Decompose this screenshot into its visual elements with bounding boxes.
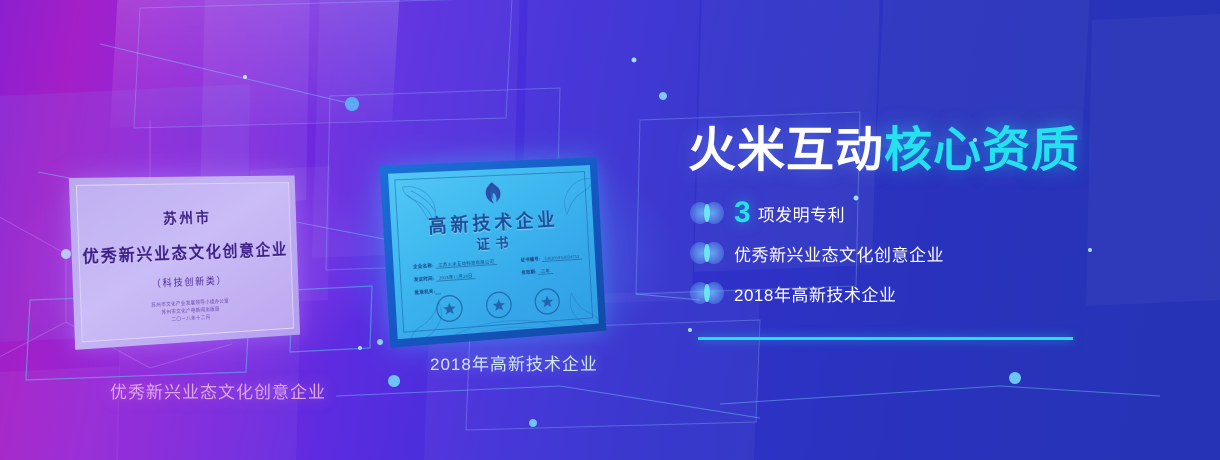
certificates-banner: 苏州市 优秀新兴业态文化创意企业 （科技创新类） 苏州市文化产业发展领导小组办公… [0,0,1220,460]
venn-bullet-icon [690,242,724,264]
certificate-middle-fields-right: 证书编号: GR201832034752 有效期: 三年 [521,254,584,289]
certificate-left-signature: 苏州市文化产业发展领导小组办公室 苏州市文化广电新闻出版局 二〇一八年十二月 [151,299,230,327]
field-value: 2018年11月28日 [436,273,476,281]
field-value: 三年 [538,268,553,275]
official-seal-icon [484,289,514,320]
high-tech-flame-logo-icon [481,181,503,210]
highlight-number: 3 [734,198,751,228]
official-seal-icon [434,293,464,325]
official-seal-icon [533,286,562,317]
field-label: 证书编号: [521,256,541,262]
field-label: 发证时间: [414,276,435,282]
page-title-plain: 火米互动 [688,124,884,177]
certificate-middle[interactable]: 高新技术企业 证书 企业名称: 江苏火米互动科技有限公司 发证时间: 2018年… [380,157,607,348]
accent-divider [698,337,1073,340]
certificate-left-inner: 苏州市 优秀新兴业态文化创意企业 （科技创新类） 苏州市文化产业发展领导小组办公… [76,182,294,342]
field-label: 有效期: [521,269,537,275]
highlight-label: 项发明专利 [758,201,846,226]
field-row: 发证时间: 2018年11月28日 [414,272,498,283]
certificate-left-line1: 苏州市 [163,207,212,228]
list-item: 优秀新兴业态文化创意企业 [690,240,944,266]
certificate-left-line2: 优秀新兴业态文化创意企业 [82,236,288,268]
certificate-left[interactable]: 苏州市 优秀新兴业态文化创意企业 （科技创新类） 苏州市文化产业发展领导小组办公… [69,175,300,349]
certificate-left-caption: 优秀新兴业态文化创意企业 [110,378,326,403]
list-item: 2018年高新技术企业 [690,280,944,306]
field-label: 企业名称: [413,263,434,269]
page-title-accent: 核心资质 [884,124,1080,177]
page-title: 火米互动核心资质 [688,110,1080,180]
highlights-list: 3 项发明专利 优秀新兴业态文化创意企业 2018年高新技术企业 [690,200,944,306]
certificate-middle-caption: 2018年高新技术企业 [430,350,598,375]
venn-bullet-icon [690,202,724,224]
highlight-label: 2018年高新技术企业 [734,281,896,306]
list-item: 3 项发明专利 [690,200,944,226]
field-row: 有效期: 三年 [521,266,583,276]
highlight-label: 优秀新兴业态文化创意企业 [734,241,944,266]
venn-bullet-icon [690,282,724,304]
field-value: GR201832034752 [542,254,583,262]
certificate-middle-inner: 高新技术企业 证书 企业名称: 江苏火米互动科技有限公司 发证时间: 2018年… [388,165,599,339]
certificate-left-line3: （科技创新类） [151,272,227,290]
